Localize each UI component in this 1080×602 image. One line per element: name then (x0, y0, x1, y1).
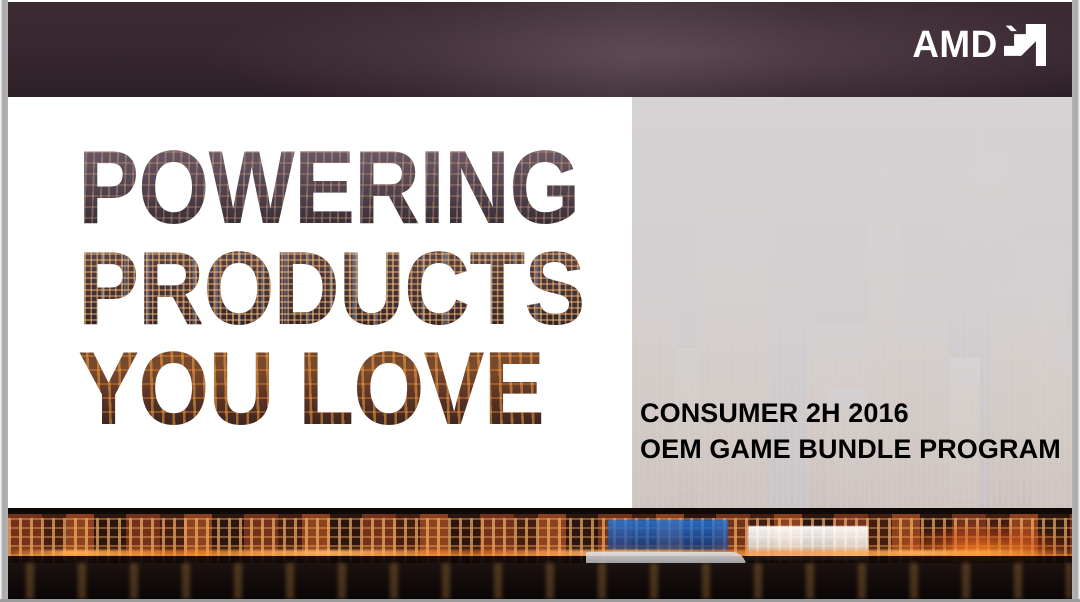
caption-line-2: OEM GAME BUNDLE PROGRAM (640, 432, 1061, 468)
caption-block: CONSUMER 2H 2016 OEM GAME BUNDLE PROGRAM (640, 396, 1061, 468)
headline: POWERING PRODUCTS YOU LOVE (78, 140, 654, 442)
caption-line-1: CONSUMER 2H 2016 (640, 396, 1061, 432)
amd-wordmark: AMD (912, 26, 997, 64)
headline-line-1: POWERING (78, 140, 585, 237)
bottom-cityscape-strip (8, 508, 1072, 599)
frame-edge-right (1072, 0, 1080, 602)
frame-edge-left (0, 0, 8, 602)
amd-title-slide: AMD POWERING PRODUCTS YOU LOVE (0, 0, 1080, 602)
strip-water-reflections (8, 563, 1072, 599)
amd-arrow-icon (1004, 24, 1046, 66)
headline-line-2: PRODUCTS (78, 241, 585, 338)
headline-line-3: YOU LOVE (78, 341, 585, 438)
amd-logo: AMD (911, 24, 1046, 66)
